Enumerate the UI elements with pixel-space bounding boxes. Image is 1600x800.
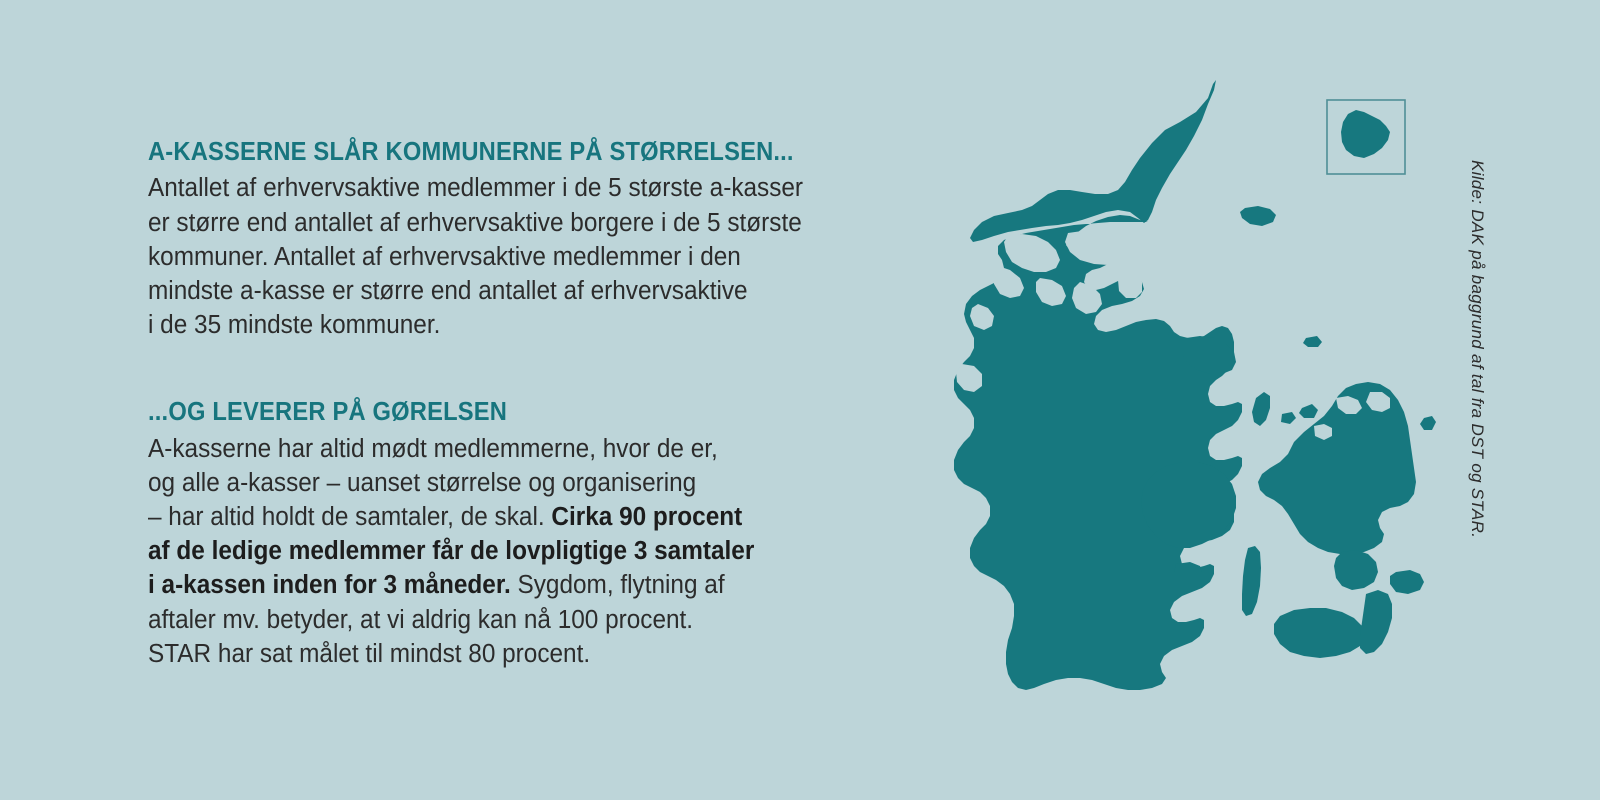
map-region-south-zealand [1334, 550, 1378, 590]
section-2-line-6: aftaler mv. betyder, at vi aldrig kan nå… [148, 606, 693, 634]
section-1-line-5: i de 35 mindste kommuner. [148, 311, 440, 339]
map-island-sejeroe [1281, 412, 1296, 424]
section-size-comparison: A-KASSERNE SLÅR KOMMUNERNE PÅ STØRRELSEN… [148, 138, 908, 342]
map-island-samso [1252, 392, 1270, 426]
map-island-lolland [1274, 608, 1364, 658]
denmark-map [890, 70, 1490, 730]
section-2-line-3-bold: Cirka 90 procent [551, 503, 742, 531]
map-island-hesseloe [1420, 416, 1436, 430]
map-region-vendsyssel [970, 80, 1216, 242]
section-1-line-1: Antallet af erhvervsaktive medlemmer i d… [148, 174, 803, 202]
section-2-line-5-bold: i a-kassen inden for 3 måneder. [148, 571, 511, 599]
section-2-line-3-prefix: – har altid holdt de samtaler, de skal. [148, 503, 551, 531]
map-island-langeland [1242, 546, 1261, 616]
section-2-line-5-suffix: Sygdom, flytning af [511, 571, 725, 599]
denmark-map-svg [890, 70, 1490, 730]
section-1-line-4: mindste a-kasse er større end antallet a… [148, 277, 748, 305]
text-column: A-KASSERNE SLÅR KOMMUNERNE PÅ STØRRELSEN… [148, 138, 908, 671]
map-island-laeso [1240, 206, 1276, 226]
map-island-falster [1360, 590, 1392, 654]
infographic-canvas: A-KASSERNE SLÅR KOMMUNERNE PÅ STØRRELSEN… [0, 0, 1600, 800]
section-2-line-2: og alle a-kasser – uanset størrelse og o… [148, 469, 696, 497]
section-1-line-2: er større end antallet af erhvervsaktive… [148, 209, 802, 237]
section-2-line-1: A-kasserne har altid mødt medlemmerne, h… [148, 435, 718, 463]
map-island-moen [1390, 570, 1424, 594]
section-2-heading: ...OG LEVERER PÅ GØRELSEN [148, 398, 855, 427]
section-1-heading: A-KASSERNE SLÅR KOMMUNERNE PÅ STØRRELSEN… [148, 138, 855, 167]
map-island-bornholm [1341, 110, 1390, 158]
map-island-zealand [1258, 382, 1416, 554]
section-1-body: Antallet af erhvervsaktive medlemmer i d… [148, 171, 874, 342]
map-island-orø [1299, 404, 1318, 418]
section-2-line-7: STAR har sat målet til mindst 80 procent… [148, 640, 590, 668]
section-2-body: A-kasserne har altid mødt medlemmerne, h… [148, 432, 874, 671]
map-island-anholt [1303, 336, 1322, 347]
map-island-aeroe [1174, 562, 1202, 576]
section-delivery: ...OG LEVERER PÅ GØRELSEN A-kasserne har… [148, 398, 908, 671]
section-2-line-4-bold: af de ledige medlemmer får de lovpligtig… [148, 537, 754, 565]
section-1-line-3: kommuner. Antallet af erhvervsaktive med… [148, 243, 741, 271]
